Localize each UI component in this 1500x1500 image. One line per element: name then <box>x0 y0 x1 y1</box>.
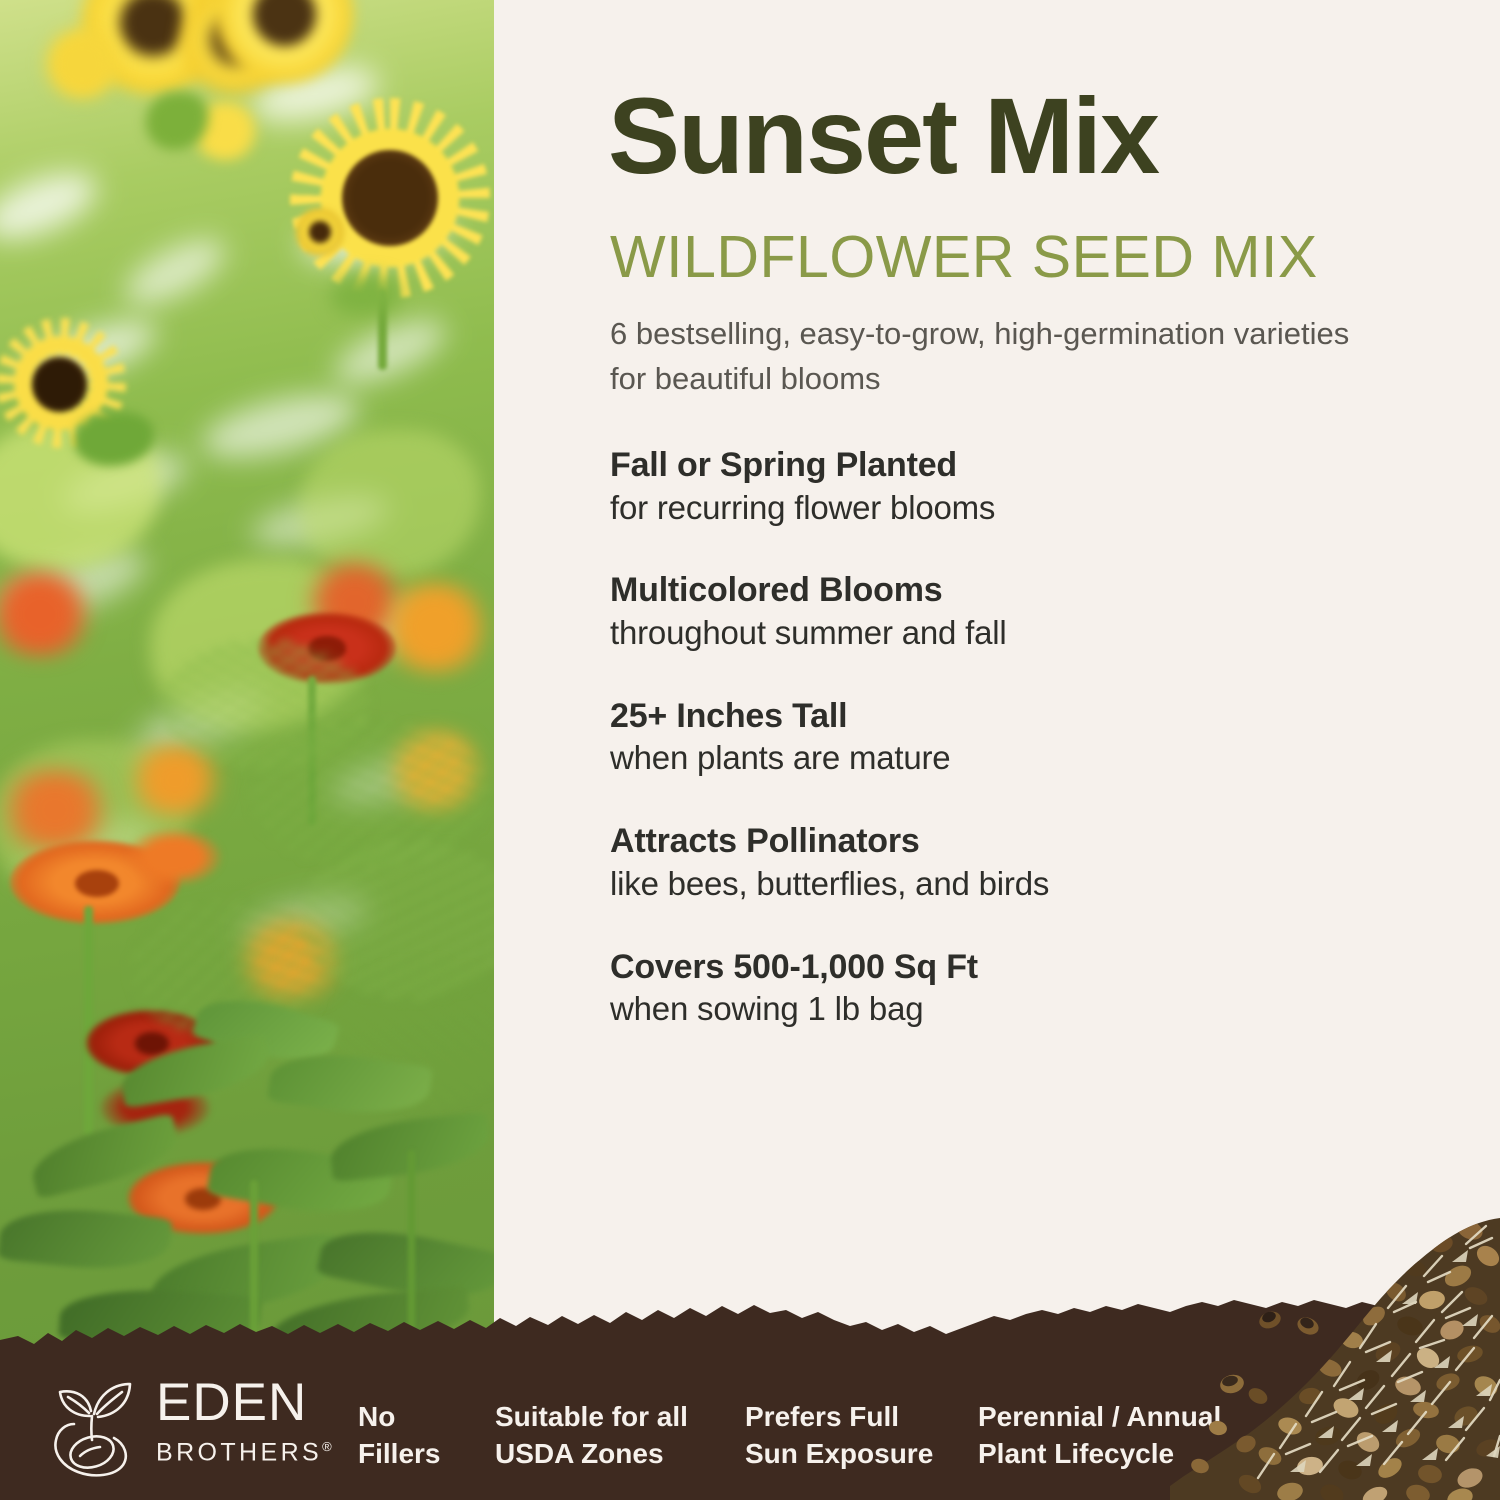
feature-heading: Multicolored Blooms <box>610 569 1370 612</box>
footer-column-zones: Suitable for all USDA Zones <box>495 1398 688 1472</box>
footer-line: Prefers Full <box>745 1398 933 1435</box>
feature-heading: Fall or Spring Planted <box>610 444 1370 487</box>
feature-heading: Attracts Pollinators <box>610 820 1370 863</box>
registered-mark: ® <box>322 1439 332 1454</box>
feature-item: Fall or Spring Planted for recurring flo… <box>610 444 1370 529</box>
footer-content: EDEN BROTHERS® No Fillers Suitable for a… <box>0 1355 1500 1500</box>
logo-brothers-word: BROTHERS <box>156 1438 322 1466</box>
product-lede: 6 bestselling, easy-to-grow, high-germin… <box>610 312 1370 402</box>
sprout-icon <box>44 1372 148 1478</box>
feature-heading: 25+ Inches Tall <box>610 695 1370 738</box>
feature-heading: Covers 500-1,000 Sq Ft <box>610 946 1370 989</box>
feature-item: Covers 500-1,000 Sq Ft when sowing 1 lb … <box>610 946 1370 1031</box>
feature-detail: like bees, butterflies, and birds <box>610 863 1370 906</box>
footer-line: Suitable for all <box>495 1398 688 1435</box>
feature-item: 25+ Inches Tall when plants are mature <box>610 695 1370 780</box>
feature-detail: for recurring flower blooms <box>610 487 1370 530</box>
footer-column-fillers: No Fillers <box>358 1398 440 1472</box>
footer-line: USDA Zones <box>495 1435 688 1472</box>
feature-list: Fall or Spring Planted for recurring flo… <box>610 444 1370 1031</box>
product-subtitle: WILDFLOWER SEED MIX <box>610 228 1318 287</box>
feature-item: Multicolored Blooms throughout summer an… <box>610 569 1370 654</box>
logo-brothers-text: BROTHERS® <box>156 1440 336 1465</box>
footer-band: EDEN BROTHERS® No Fillers Suitable for a… <box>0 1300 1500 1500</box>
footer-line: Sun Exposure <box>745 1435 933 1472</box>
sunflower-main <box>290 98 490 298</box>
eden-brothers-logo: EDEN BROTHERS® <box>44 1370 294 1482</box>
logo-eden-text: EDEN <box>156 1376 336 1429</box>
feature-item: Attracts Pollinators like bees, butterfl… <box>610 820 1370 905</box>
footer-line: No <box>358 1398 440 1435</box>
feature-detail: when sowing 1 lb bag <box>610 988 1370 1031</box>
product-infographic: Sunset Mix WILDFLOWER SEED MIX 6 bestsel… <box>0 0 1500 1500</box>
footer-column-sun: Prefers Full Sun Exposure <box>745 1398 933 1472</box>
feature-detail: when plants are mature <box>610 737 1370 780</box>
product-title: Sunset Mix <box>608 82 1158 190</box>
footer-column-lifecycle: Perennial / Annual Plant Lifecycle <box>978 1398 1221 1472</box>
content-panel: Sunset Mix WILDFLOWER SEED MIX 6 bestsel… <box>494 0 1500 1500</box>
feature-detail: throughout summer and fall <box>610 612 1370 655</box>
footer-line: Perennial / Annual <box>978 1398 1221 1435</box>
meadow-photo <box>0 0 494 1345</box>
footer-line: Plant Lifecycle <box>978 1435 1221 1472</box>
footer-line: Fillers <box>358 1435 440 1472</box>
